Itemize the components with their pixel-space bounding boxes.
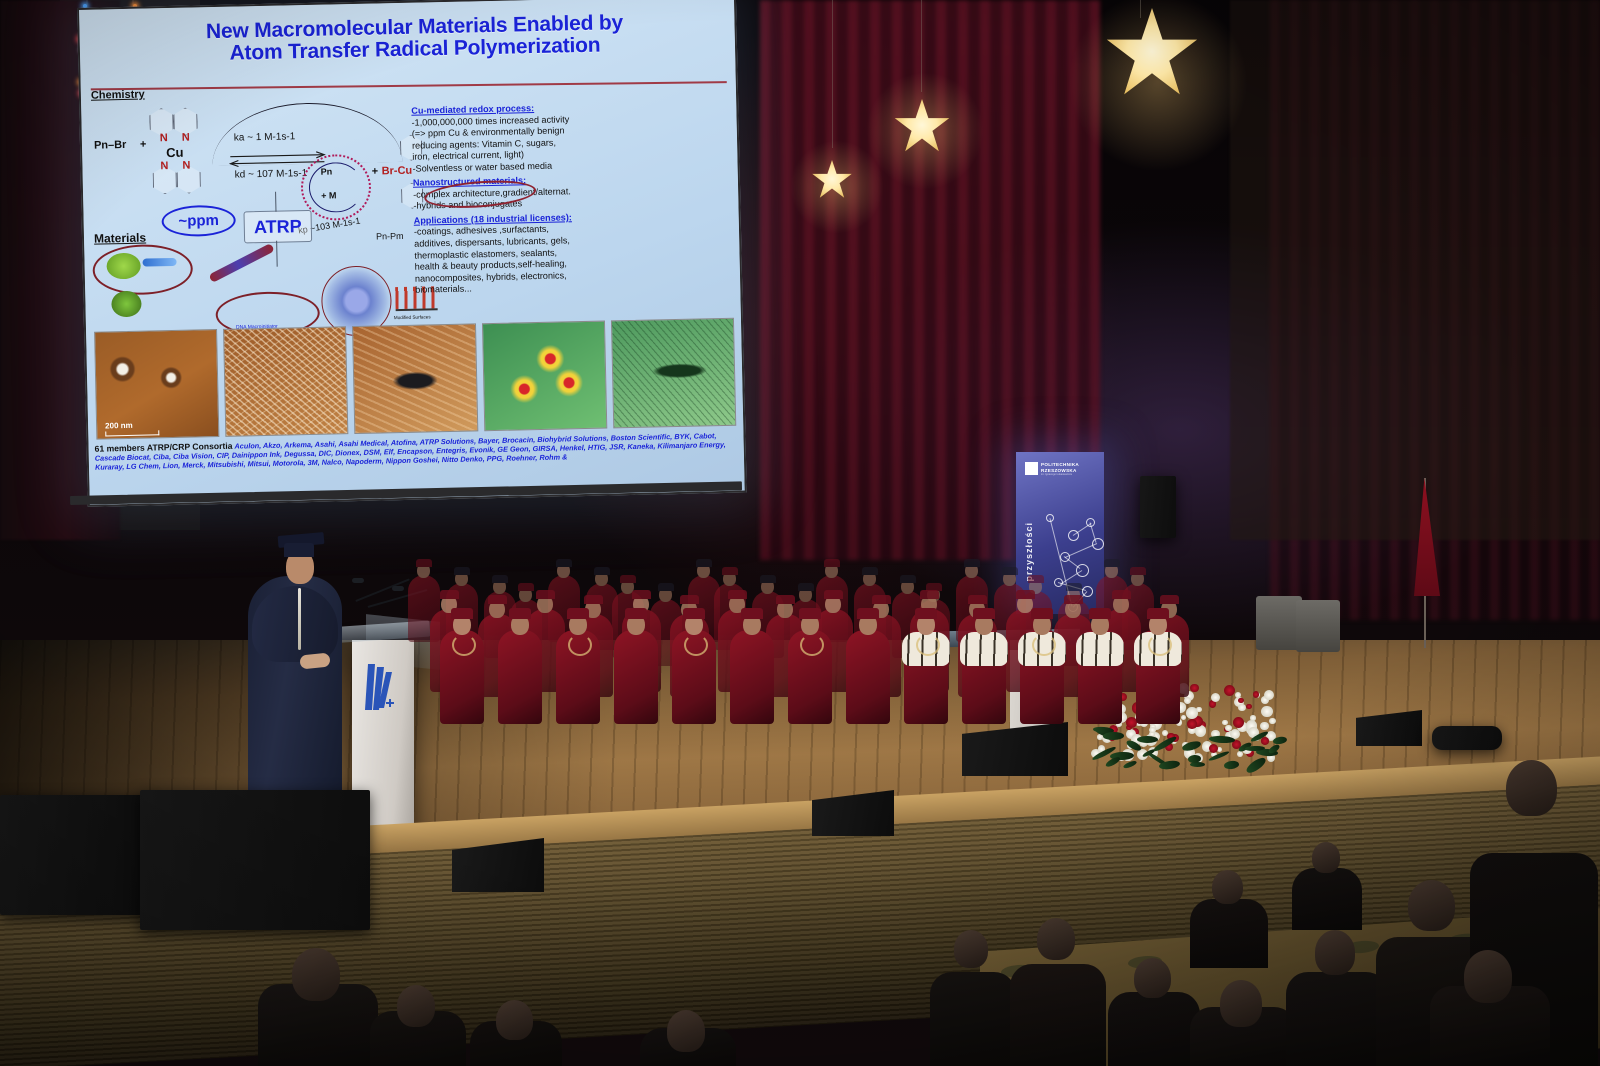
academic-cap <box>722 567 738 575</box>
university-logo-mark <box>1025 462 1038 475</box>
radical-label: Pn <box>321 166 333 176</box>
audience-member <box>1190 980 1296 1066</box>
audience-member <box>930 930 1016 1066</box>
speaker-cap-crown <box>284 543 314 557</box>
medallion-chain <box>1148 634 1172 656</box>
micrograph-afm-particles: 200 nm <box>94 329 220 440</box>
flower-red <box>1187 719 1197 729</box>
termination-label: Pn-Pm <box>376 231 404 242</box>
flower-white <box>1264 690 1274 700</box>
plus-sign-1: + <box>140 139 147 151</box>
projection-screen: New Macromolecular Materials Enabled by … <box>77 0 747 507</box>
audience-member <box>1286 930 1388 1066</box>
seated-academic <box>672 604 716 724</box>
atrp-connector <box>275 192 277 212</box>
academic-cap <box>488 595 507 605</box>
seated-academic <box>1078 604 1122 724</box>
monomer-label: + M <box>321 190 336 200</box>
academic-cap <box>1028 575 1044 583</box>
star-polymer <box>111 291 142 318</box>
academic-robe <box>498 630 542 724</box>
flower-white <box>1184 697 1191 704</box>
audience-body <box>930 972 1016 1066</box>
academic-cap <box>556 559 572 567</box>
line-array-speaker <box>1140 476 1176 538</box>
audience-body <box>1010 964 1106 1066</box>
academic-cap <box>872 595 891 605</box>
medallion-chain <box>684 634 708 656</box>
nitrogen-label-2: N <box>182 132 190 144</box>
audience-body <box>1108 992 1200 1066</box>
flower-white <box>1196 707 1202 713</box>
polymer-tail <box>142 258 176 267</box>
ceremonial-flag <box>1408 478 1444 648</box>
copper-label: Cu <box>166 145 184 160</box>
foliage <box>1103 731 1124 739</box>
audience-member <box>258 948 378 1066</box>
audience-head <box>1408 880 1454 931</box>
audience-member <box>1430 950 1550 1066</box>
flower-red <box>1224 685 1235 696</box>
foliage <box>1182 739 1203 752</box>
academic-cap <box>1089 608 1111 619</box>
academic-cap <box>567 608 589 619</box>
flower-white <box>1237 751 1243 757</box>
title-divider <box>91 81 727 90</box>
academic-cap <box>862 567 878 575</box>
academic-cap <box>620 575 636 583</box>
flower-white <box>1260 722 1268 730</box>
flower-red <box>1261 737 1268 744</box>
subwoofer-left <box>0 795 150 915</box>
molecule-bond <box>1065 543 1097 558</box>
flower-white <box>1217 747 1222 752</box>
academic-cap <box>776 595 795 605</box>
scale-bar-label: 200 nm <box>105 421 133 431</box>
academic-robe <box>846 630 890 724</box>
molecule-bond <box>1072 523 1091 536</box>
academic-cap <box>728 590 747 600</box>
slide-surface: New Macromolecular Materials Enabled by … <box>79 0 745 505</box>
flower-white <box>1269 718 1275 724</box>
audience-member <box>1292 842 1362 928</box>
audience-member <box>370 985 466 1066</box>
academic-cap <box>625 608 647 619</box>
academic-cap <box>492 575 508 583</box>
academic-cap <box>683 608 705 619</box>
medallion-chain <box>452 634 476 656</box>
audience-head <box>1037 918 1075 960</box>
flower-white <box>1195 725 1206 736</box>
academic-cap <box>1002 567 1018 575</box>
molecule-bond <box>1064 556 1081 569</box>
flower-white <box>1235 692 1241 698</box>
academic-cap <box>1160 595 1179 605</box>
academic-cap <box>760 575 776 583</box>
academic-cap <box>509 608 531 619</box>
seated-academic <box>788 604 832 724</box>
academic-cap <box>968 595 987 605</box>
ermine-collar <box>960 632 1008 666</box>
flower-white <box>1261 706 1272 717</box>
academic-robe <box>730 630 774 724</box>
microphone-head-2 <box>392 586 404 591</box>
academic-cap <box>857 608 879 619</box>
subwoofer-center <box>140 790 370 930</box>
deactivation-rate-label: kd ~ 107 M-1s-1 <box>235 168 308 181</box>
micrograph-afm-flake <box>352 323 478 434</box>
speaker-cord <box>298 588 301 650</box>
flower-red <box>1190 684 1198 692</box>
academic-cap <box>798 583 814 591</box>
stage-chair-2 <box>1296 600 1340 652</box>
flower-red <box>1126 717 1136 727</box>
academic-cap <box>1147 608 1169 619</box>
audience-member <box>470 1000 562 1066</box>
academic-cap <box>632 590 651 600</box>
academic-cap <box>454 567 470 575</box>
seated-academic <box>498 604 542 724</box>
academic-cap <box>1066 583 1082 591</box>
medallion-chain <box>916 634 940 656</box>
academic-cap <box>536 590 555 600</box>
camera-on-stage <box>1432 726 1502 750</box>
audience-head <box>1464 950 1512 1003</box>
micrograph-green-filament <box>611 318 737 429</box>
flower-white <box>1211 693 1220 702</box>
right-wall <box>1230 0 1600 540</box>
microphone-head-1 <box>352 578 364 583</box>
audience-head <box>1212 870 1243 904</box>
seated-academic <box>440 604 484 724</box>
scale-bar-line <box>105 430 159 436</box>
nitrogen-label-3: N <box>160 160 168 172</box>
academic-cap <box>584 595 603 605</box>
audience-head <box>1312 842 1340 873</box>
academic-cap <box>1112 590 1131 600</box>
audience-member <box>640 1010 736 1066</box>
audience-head <box>954 930 988 968</box>
section-label-materials: Materials <box>94 231 146 246</box>
academic-cap <box>920 590 939 600</box>
academic-cap <box>1016 590 1035 600</box>
seated-academic <box>904 604 948 724</box>
micrograph-row: 200 nm <box>94 318 736 440</box>
atrp-badge: ATRP <box>243 210 312 243</box>
academic-cap <box>799 608 821 619</box>
academic-cap <box>440 590 459 600</box>
audience-member <box>1108 958 1200 1066</box>
flower-red <box>1238 698 1243 703</box>
speaker-figure <box>246 528 356 828</box>
seated-academic <box>1136 604 1180 724</box>
micrograph-heatmap-dots <box>482 321 608 432</box>
conference-hall-photo: New Macromolecular Materials Enabled by … <box>0 0 1600 1066</box>
academic-cap <box>451 608 473 619</box>
audience-member <box>1190 870 1268 966</box>
academic-robe <box>614 630 658 724</box>
ppm-badge: ~ppm <box>161 205 236 238</box>
slide-title: New Macromolecular Materials Enabled by … <box>119 10 710 67</box>
academic-cap <box>964 559 980 567</box>
seated-academic <box>1020 604 1064 724</box>
academic-cap <box>1064 595 1083 605</box>
medallion-chain <box>800 634 824 656</box>
audience-body <box>1292 868 1362 930</box>
foliage <box>1187 754 1201 763</box>
audience-head <box>667 1010 705 1052</box>
activation-rate-label: ka ~ 1 M-1s-1 <box>234 131 296 143</box>
product-right-label: Br-Cu <box>382 165 413 178</box>
medallion-chain <box>568 634 592 656</box>
seated-academic <box>730 604 774 724</box>
audience-body <box>1286 972 1388 1066</box>
section-label-chemistry: Chemistry <box>91 89 145 102</box>
reactant-left-label: Pn–Br <box>94 139 127 152</box>
seated-academic <box>556 604 600 724</box>
audience-member <box>1010 918 1106 1066</box>
flag-cloth <box>1414 478 1440 596</box>
academic-cap <box>973 608 995 619</box>
modified-surfaces-label: Modified Surfaces <box>394 314 431 320</box>
academic-cap <box>824 559 840 567</box>
foliage <box>1136 736 1157 743</box>
academic-cap <box>824 590 843 600</box>
academic-cap <box>1130 567 1146 575</box>
ermine-collar <box>1076 632 1124 666</box>
seated-academic <box>614 604 658 724</box>
academic-cap <box>900 575 916 583</box>
audience-head <box>496 1000 533 1040</box>
audience-body <box>1190 899 1268 968</box>
star-glow-large <box>1068 0 1248 172</box>
audience-head <box>1506 760 1557 816</box>
academic-cap <box>741 608 763 619</box>
speaker-cape <box>252 586 338 662</box>
academic-cap <box>1104 559 1120 567</box>
audience-head <box>292 948 340 1001</box>
flower-red <box>1246 704 1252 710</box>
audience-head <box>397 985 435 1027</box>
academic-cap <box>696 559 712 567</box>
medallion-chain <box>1032 634 1056 656</box>
plus-sign-2: + <box>372 165 379 177</box>
speaker-podium-logo <box>362 662 396 714</box>
audience-head <box>1134 958 1171 998</box>
star-wire-small <box>832 0 833 148</box>
audience-head <box>1220 980 1262 1027</box>
seated-academic <box>846 604 890 724</box>
audience-head <box>1315 930 1356 975</box>
university-name-sub: im. Ignacego Łukasiewicza <box>1041 473 1072 476</box>
atrp-connector-down <box>276 241 278 267</box>
academic-cap <box>1031 608 1053 619</box>
nitrogen-label-4: N <box>182 160 190 172</box>
flower-red <box>1209 744 1219 754</box>
seated-academic <box>962 604 1006 724</box>
academic-cap <box>915 608 937 619</box>
academic-cap <box>680 595 699 605</box>
academic-cap <box>594 567 610 575</box>
flower-white <box>1238 704 1246 712</box>
block-copolymer-chain <box>208 243 274 283</box>
micrograph-afm-fibers <box>223 326 349 437</box>
academic-cap <box>416 559 432 567</box>
nitrogen-label-1: N <box>160 132 168 144</box>
